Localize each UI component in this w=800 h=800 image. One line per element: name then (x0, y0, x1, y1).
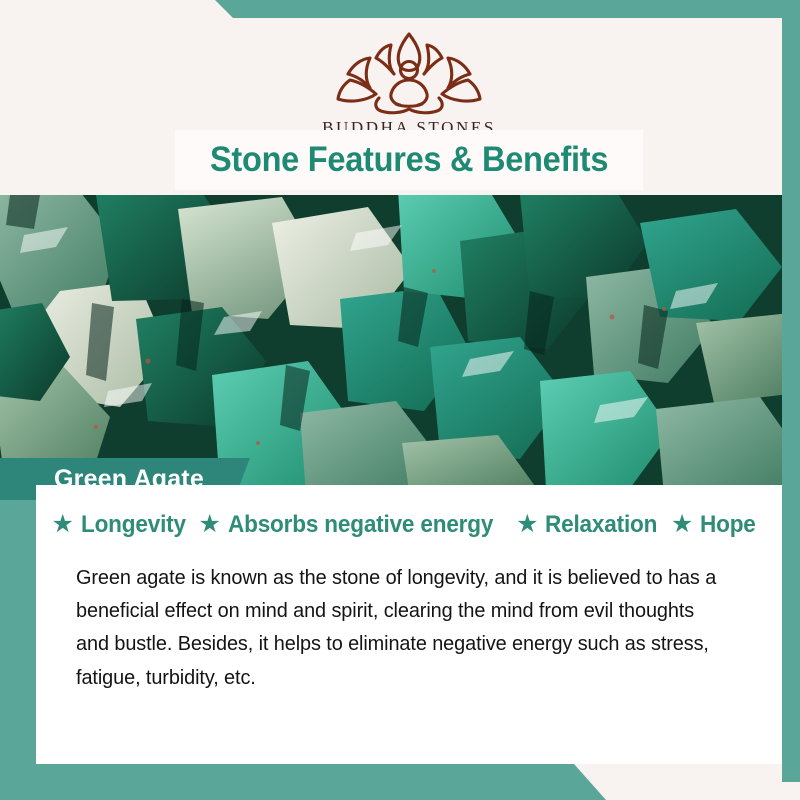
decorative-bar-top (215, 0, 800, 18)
benefit-label: Hope (700, 511, 756, 539)
stone-photo-artwork (0, 195, 782, 485)
header-section: BUDDHA STONES Stone Features & Benefits (36, 18, 782, 195)
star-icon: ★ (198, 512, 220, 537)
benefit-item: ★ Longevity (46, 511, 193, 539)
lotus-meditation-icon (334, 28, 484, 116)
star-icon: ★ (516, 512, 538, 537)
benefit-label: Longevity (81, 511, 186, 539)
star-icon: ★ (52, 512, 74, 537)
decorative-bar-right (782, 0, 800, 782)
benefit-item: ★ Hope (665, 511, 760, 539)
content-card: BUDDHA STONES Stone Features & Benefits (36, 18, 782, 764)
benefit-item: ★ Relaxation (510, 511, 665, 539)
page-title-plate: Stone Features & Benefits (175, 130, 643, 190)
benefit-label: Relaxation (545, 511, 657, 539)
stone-photo (0, 195, 782, 485)
decorative-bar-bottom (0, 764, 606, 800)
page-title: Stone Features & Benefits (210, 140, 608, 180)
poster-canvas: BUDDHA STONES Stone Features & Benefits (0, 0, 800, 800)
star-icon: ★ (671, 512, 693, 537)
content-section: ★ Longevity ★ Absorbs negative energy ★ … (36, 485, 782, 764)
benefit-item: ★ Absorbs negative energy (192, 511, 510, 539)
benefits-list: ★ Longevity ★ Absorbs negative energy ★ … (45, 511, 760, 539)
brand-logo: BUDDHA STONES (294, 28, 524, 138)
benefit-label: Absorbs negative energy (228, 511, 493, 539)
stone-description: Green agate is known as the stone of lon… (45, 561, 739, 694)
